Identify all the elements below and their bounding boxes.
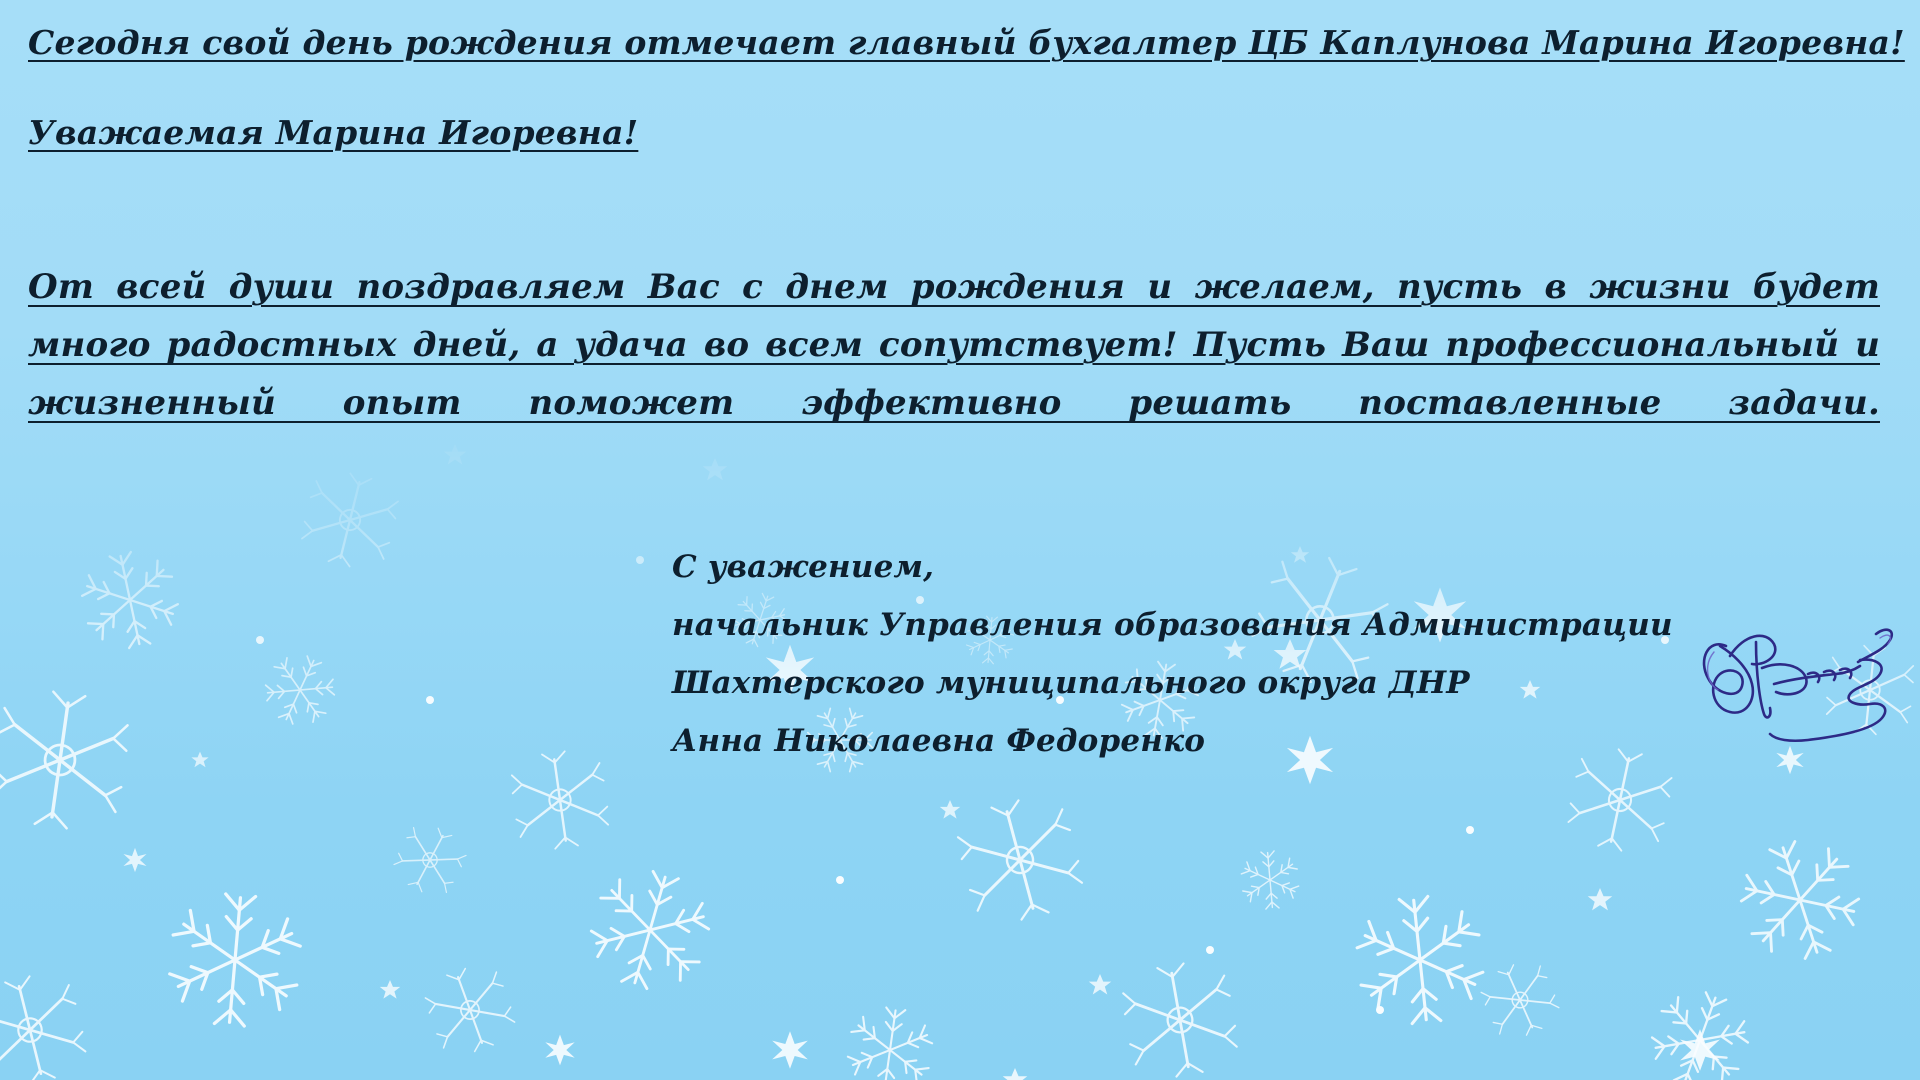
signature-position-2: Шахтерского муниципального округа ДНР — [672, 654, 1673, 712]
signature-block: С уважением, начальник Управления образо… — [672, 538, 1673, 770]
handwritten-signature-icon — [1690, 608, 1920, 758]
signature-name: Анна Николаевна Федоренко — [672, 712, 1673, 770]
salutation-line: Уважаемая Марина Игоревна! — [28, 110, 638, 156]
signature-closing: С уважением, — [672, 538, 1673, 596]
signature-position-1: начальник Управления образования Админис… — [672, 596, 1673, 654]
greeting-card: Сегодня свой день рождения отмечает глав… — [0, 0, 1920, 1080]
page-title: Сегодня свой день рождения отмечает глав… — [28, 20, 1628, 66]
greeting-body-text: От всей души поздравляем Вас с днем рожд… — [28, 258, 1880, 490]
